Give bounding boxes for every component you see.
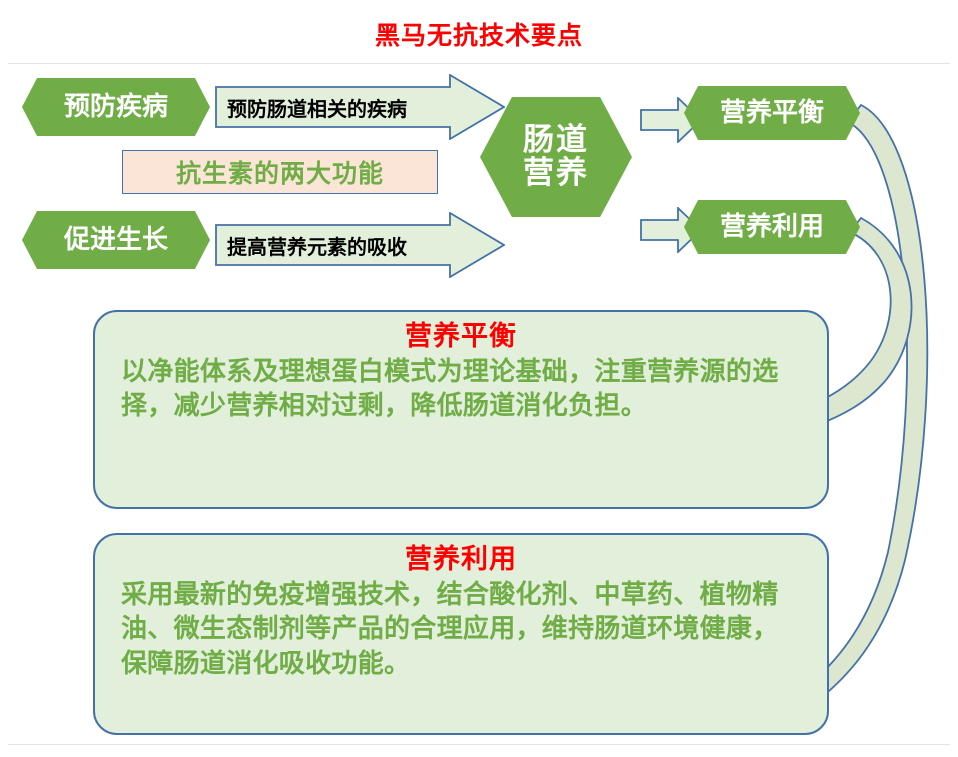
panel-nutrition-balance: 营养平衡 以净能体系及理想蛋白模式为理论基础，注重营养源的选择，减少营养相对过剩… — [93, 310, 829, 509]
page-title: 黑马无抗技术要点 — [0, 22, 958, 50]
footer-divider — [8, 744, 950, 745]
note-antibiotic-functions[interactable]: 抗生素的两大功能 — [122, 150, 438, 194]
panel-nutrition-utilization: 营养利用 采用最新的免疫增强技术，结合酸化剂、中草药、植物精油、微生态制剂等产品… — [93, 533, 829, 735]
hex-gut-nutrition-label: 肠道 营养 — [523, 124, 589, 191]
hex-prevent-disease[interactable]: 预防疾病 — [22, 78, 210, 136]
hex-promote-growth[interactable]: 促进生长 — [22, 211, 210, 269]
note-antibiotic-functions-label: 抗生素的两大功能 — [176, 154, 384, 190]
arrow-improve-nutrient-absorption[interactable]: 提高营养元素的吸收 — [215, 212, 505, 278]
hex-promote-growth-label: 促进生长 — [64, 226, 168, 254]
hex-prevent-disease-label: 预防疾病 — [64, 93, 168, 121]
arrow-prevent-intestinal-disease[interactable]: 预防肠道相关的疾病 — [215, 74, 505, 140]
hex-nutrition-balance-label: 营养平衡 — [720, 99, 824, 127]
hex-nutrition-balance[interactable]: 营养平衡 — [684, 86, 860, 140]
hex-nutrition-utilization[interactable]: 营养利用 — [684, 200, 860, 254]
panel-nutrition-utilization-heading: 营养利用 — [121, 543, 801, 577]
hex-nutrition-utilization-label: 营养利用 — [720, 213, 824, 241]
header-divider — [8, 63, 950, 64]
panel-nutrition-balance-body: 以净能体系及理想蛋白模式为理论基础，注重营养源的选择，减少营养相对过剩，降低肠道… — [121, 355, 801, 424]
arrow-prevent-intestinal-disease-label: 预防肠道相关的疾病 — [215, 93, 407, 122]
arrow-improve-nutrient-absorption-label: 提高营养元素的吸收 — [215, 231, 407, 260]
panel-nutrition-balance-heading: 营养平衡 — [121, 320, 801, 354]
panel-nutrition-utilization-body: 采用最新的免疫增强技术，结合酸化剂、中草药、植物精油、微生态制剂等产品的合理应用… — [121, 578, 801, 682]
slide-canvas: 黑马无抗技术要点 预防疾病 促进生长 预防肠道相关的疾病 提高营养元素的吸收 抗… — [0, 0, 958, 757]
hex-gut-nutrition[interactable]: 肠道 营养 — [480, 97, 632, 217]
